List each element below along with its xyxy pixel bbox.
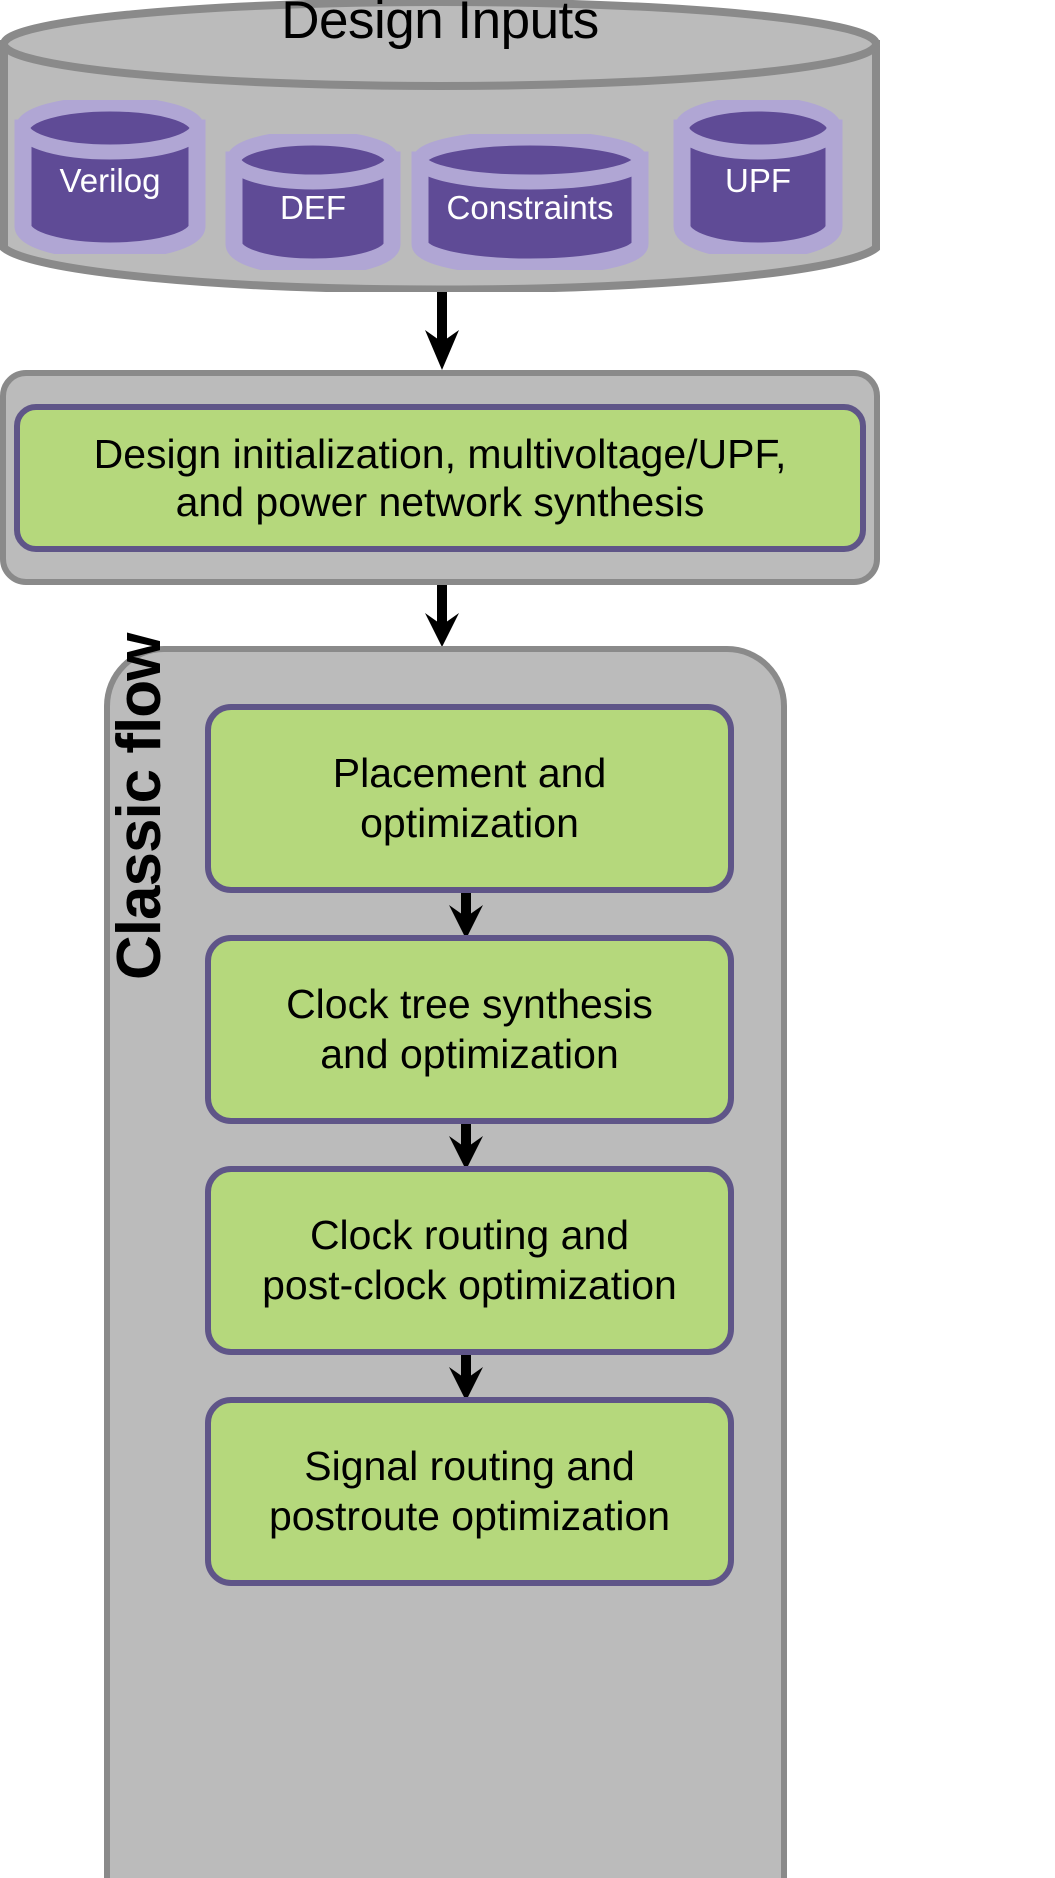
flow-step-signal-routing[interactable]: Signal routing and postroute optimizatio… — [205, 1397, 734, 1586]
flow-step-clock-routing-text: Clock routing and post-clock optimizatio… — [250, 1211, 689, 1309]
diagram-canvas: Design Inputs Verilog DEF Constraints UP… — [0, 0, 1055, 1878]
design-inputs-title: Design Inputs — [0, 0, 880, 47]
input-item-upf[interactable]: UPF — [673, 100, 843, 254]
flow-step-cts-line1: Clock tree synthesis — [286, 981, 653, 1027]
flow-step-cts[interactable]: Clock tree synthesis and optimization — [205, 935, 734, 1124]
design-init-line1: Design initialization, multivoltage/UPF, — [94, 431, 787, 477]
design-init-line2: and power network synthesis — [176, 479, 705, 525]
flow-step-placement-line1: Placement and — [333, 750, 607, 796]
classic-flow-label: Classic flow — [104, 480, 184, 980]
flow-step-placement-text: Placement and optimization — [321, 749, 619, 847]
flow-step-signal-routing-line2: postroute optimization — [269, 1493, 670, 1539]
arrow-init-to-classic-flow — [418, 585, 466, 647]
flow-step-cts-line2: and optimization — [320, 1031, 619, 1077]
arrow-cts-to-clock-routing — [444, 1124, 488, 1170]
arrow-clock-routing-to-signal-routing — [444, 1355, 488, 1401]
flow-step-clock-routing-line1: Clock routing and — [310, 1212, 629, 1258]
flow-step-clock-routing-line2: post-clock optimization — [262, 1262, 677, 1308]
input-item-verilog[interactable]: Verilog — [14, 100, 206, 254]
input-item-def[interactable]: DEF — [225, 134, 401, 270]
arrow-inputs-to-init — [418, 292, 466, 370]
flow-step-cts-text: Clock tree synthesis and optimization — [274, 980, 665, 1078]
flow-step-signal-routing-line1: Signal routing and — [304, 1443, 635, 1489]
arrow-placement-to-cts — [444, 893, 488, 939]
flow-step-clock-routing[interactable]: Clock routing and post-clock optimizatio… — [205, 1166, 734, 1355]
flow-step-signal-routing-text: Signal routing and postroute optimizatio… — [257, 1442, 682, 1540]
input-item-constraints[interactable]: Constraints — [411, 134, 649, 270]
flow-step-placement-line2: optimization — [360, 800, 579, 846]
design-init-stage-text: Design initialization, multivoltage/UPF,… — [84, 430, 797, 527]
flow-step-placement[interactable]: Placement and optimization — [205, 704, 734, 893]
